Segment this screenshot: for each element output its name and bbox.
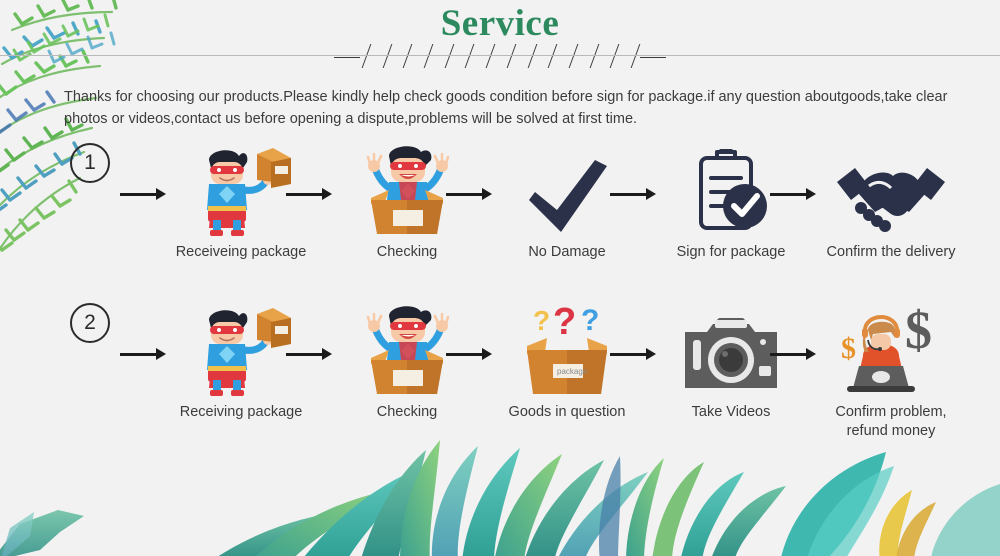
step-label: Checking bbox=[377, 243, 437, 262]
divider-slash bbox=[362, 44, 372, 68]
svg-text:package: package bbox=[557, 367, 588, 376]
step-2-2: Checking bbox=[332, 300, 482, 455]
row-1-steps: Receiveing package bbox=[120, 140, 980, 295]
title-divider bbox=[0, 44, 1000, 70]
svg-text:$: $ bbox=[905, 302, 932, 360]
page-title: Service bbox=[0, 2, 1000, 45]
step-label: Receiveing package bbox=[176, 243, 307, 262]
svg-text:?: ? bbox=[581, 304, 599, 337]
step-label: No Damage bbox=[528, 243, 605, 262]
step-1-2: Checking bbox=[332, 140, 482, 295]
svg-text:?: ? bbox=[553, 302, 576, 343]
divider-slash bbox=[631, 44, 641, 68]
arrow-2-4 bbox=[770, 348, 816, 360]
arrow-1-0 bbox=[120, 188, 166, 200]
step-2-4: Take Videos bbox=[656, 300, 806, 455]
divider-slashes bbox=[366, 44, 636, 70]
support-agent-money-icon: $ $ bbox=[831, 300, 951, 396]
step-label: Goods in question bbox=[509, 403, 626, 422]
arrow-2-1 bbox=[286, 348, 332, 360]
row-2-steps: Receiving package bbox=[120, 300, 980, 455]
divider-slash bbox=[444, 44, 454, 68]
arrow-2-2 bbox=[446, 348, 492, 360]
step-1-4: Sign for package bbox=[656, 140, 806, 295]
handshake-icon bbox=[831, 140, 951, 236]
step-2-1: Receiving package bbox=[166, 300, 316, 455]
step-label: Receiving package bbox=[180, 403, 303, 422]
arrow-1-3 bbox=[610, 188, 656, 200]
box-question-marks-icon: ? ? ? package bbox=[507, 300, 627, 396]
arrow-1-4 bbox=[770, 188, 816, 200]
service-info-banner: Service Thanks for choosing our products… bbox=[0, 0, 1000, 556]
svg-text:?: ? bbox=[533, 305, 550, 336]
intro-paragraph: Thanks for choosing our products.Please … bbox=[64, 86, 954, 130]
header-rule bbox=[0, 55, 1000, 56]
step-label: Confirm problem, refund money bbox=[835, 403, 946, 441]
divider-slash bbox=[382, 44, 392, 68]
arrow-1-1 bbox=[286, 188, 332, 200]
step-1-3: No Damage bbox=[492, 140, 642, 295]
divider-slash bbox=[548, 44, 558, 68]
checkmark-icon bbox=[507, 140, 627, 236]
step-1-1: Receiveing package bbox=[166, 140, 316, 295]
arrow-1-2 bbox=[446, 188, 492, 200]
step-1-5: Confirm the delivery bbox=[816, 140, 966, 295]
arrow-2-3 bbox=[610, 348, 656, 360]
step-label: Sign for package bbox=[677, 243, 786, 262]
svg-text:$: $ bbox=[841, 332, 856, 365]
divider-slash bbox=[506, 44, 516, 68]
arrow-2-0 bbox=[120, 348, 166, 360]
hero-holding-package-icon bbox=[181, 300, 301, 396]
row-badge-1: 1 bbox=[70, 143, 110, 183]
step-label: Confirm the delivery bbox=[827, 243, 956, 262]
divider-slash bbox=[589, 44, 599, 68]
step-label: Checking bbox=[377, 403, 437, 422]
step-2-3: ? ? ? package Goods in question bbox=[492, 300, 642, 455]
divider-slash bbox=[424, 44, 434, 68]
row-badge-2: 2 bbox=[70, 303, 110, 343]
divider-line-left bbox=[334, 57, 360, 58]
divider-slash bbox=[610, 44, 620, 68]
divider-slash bbox=[569, 44, 579, 68]
divider-slash bbox=[465, 44, 475, 68]
divider-slash bbox=[486, 44, 496, 68]
hero-holding-package-icon bbox=[181, 140, 301, 236]
step-label: Take Videos bbox=[692, 403, 771, 422]
divider-slash bbox=[403, 44, 413, 68]
step-2-5: $ $ bbox=[816, 300, 966, 455]
divider-line-right bbox=[640, 57, 666, 58]
divider-slash bbox=[527, 44, 537, 68]
